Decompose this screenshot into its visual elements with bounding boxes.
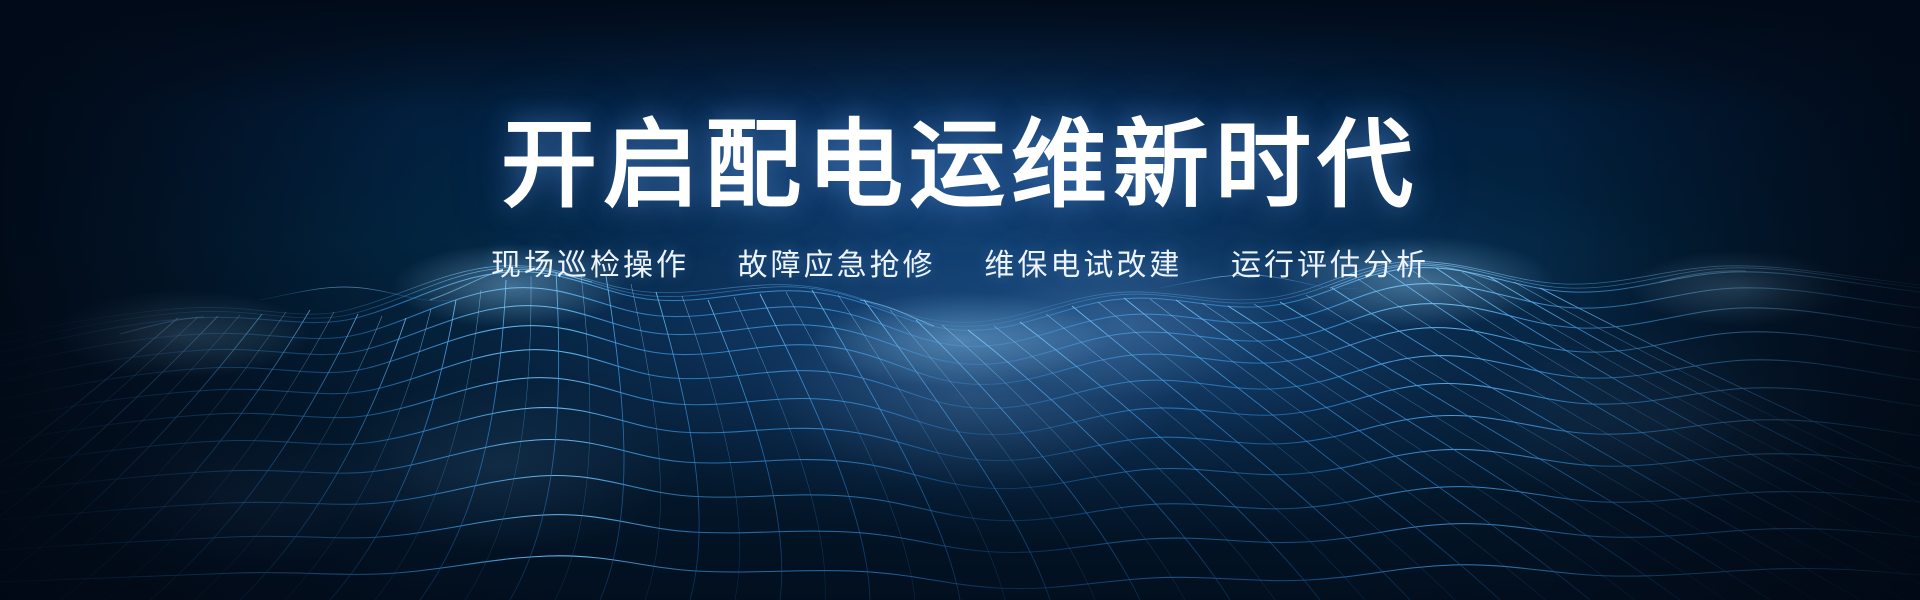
subtitle-segment-1: 现场巡检操作 [491,240,689,284]
subtitle-segment-3: 维保电试改建 [984,240,1182,284]
banner-text-block: 开启配电运维新时代 现场巡检操作 故障应急抢修 维保电试改建 运行评估分析 [0,118,1920,284]
banner-headline: 开启配电运维新时代 [0,118,1920,214]
banner-root: 开启配电运维新时代 现场巡检操作 故障应急抢修 维保电试改建 运行评估分析 [0,0,1920,600]
subtitle-segment-4: 运行评估分析 [1231,240,1429,284]
background-top-shade [0,0,1920,600]
banner-subtitle: 现场巡检操作 故障应急抢修 维保电试改建 运行评估分析 [0,240,1920,284]
subtitle-segment-2: 故障应急抢修 [738,240,936,284]
